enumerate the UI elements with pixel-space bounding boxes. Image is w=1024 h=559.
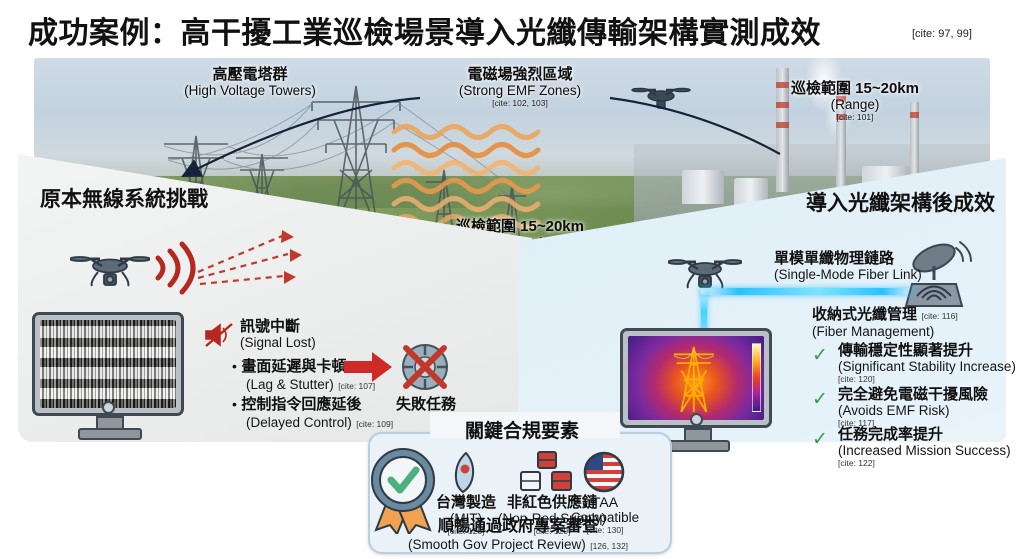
failed-mission-x-icon: [398, 340, 452, 394]
monitor-stand-base: [78, 428, 142, 440]
right-panel-heading: 導入光纖架構後成效: [806, 187, 995, 217]
page-title-citation: [cite: 97, 99]: [912, 28, 972, 40]
title-bar: 成功案例：高干擾工業巡檢場景導入光纖傳輸架構實測成效 [cite: 97, 99…: [0, 0, 1024, 54]
wireless-signal-icon: [150, 238, 198, 298]
bullet-delayed-control: • 控制指令回應延後 (Delayed Control) [cite: 109]: [232, 396, 393, 432]
benefit-avoids-emf: 完全避免電磁干擾風險 (Avoids EMF Risk) [cite: 117]: [838, 386, 988, 429]
monitor-static-screen: [40, 320, 176, 408]
monitor-power-dot: [690, 413, 703, 426]
thermal-tower-graphic: [665, 341, 728, 415]
left-panel-heading: 原本無線系統挑戰: [40, 183, 208, 213]
bullet-dot: •: [232, 396, 237, 412]
benefit-stability: 傳輸穩定性顯著提升 (Significant Stability Increas…: [838, 342, 1016, 385]
benefit-mission-success: 任務完成率提升 (Increased Mission Success) [cit…: [838, 426, 1011, 469]
label-fiber-management: 收納式光纖管理 [cite: 116] (Fiber Management): [812, 306, 958, 340]
muted-signal-icon: [204, 322, 234, 348]
fiber-link-beam: [700, 288, 915, 295]
green-check-icon: ✓: [812, 344, 828, 367]
thermal-color-scale: [752, 343, 761, 412]
compliance-title: 關鍵合規要素: [447, 416, 597, 443]
green-check-icon: ✓: [812, 428, 828, 451]
broken-signal-rays: [196, 228, 308, 296]
red-arrow-icon: [344, 352, 392, 382]
compliance-footer: 順暢通過政府專案審查 (Smooth Gov Project Review) […: [376, 518, 660, 554]
drone-icon: [70, 248, 150, 290]
monitor-stand-base: [666, 440, 730, 452]
page-title: 成功案例：高干擾工業巡檢場景導入光纖傳輸架構實測成效: [28, 8, 821, 52]
green-check-icon: ✓: [812, 388, 828, 411]
label-single-mode-fiber-link: 單模單纖物理鏈路 (Single-Mode Fiber Link): [774, 250, 922, 283]
drone-icon: [668, 252, 742, 292]
us-flag-badge-icon: [582, 450, 626, 494]
thermal-screen: [628, 336, 764, 420]
taiwan-map-icon: [452, 452, 478, 494]
infographic-root: 成功案例：高干擾工業巡檢場景導入光纖傳輸架構實測成效 [cite: 97, 99…: [0, 0, 1024, 559]
label-failed-mission: 失敗任務: [388, 396, 464, 413]
bullet-dot: •: [232, 358, 237, 374]
monitor-power-dot: [102, 401, 115, 414]
red-boxes-icon: [518, 450, 574, 494]
label-signal-lost: 訊號中斷 (Signal Lost): [240, 318, 316, 351]
